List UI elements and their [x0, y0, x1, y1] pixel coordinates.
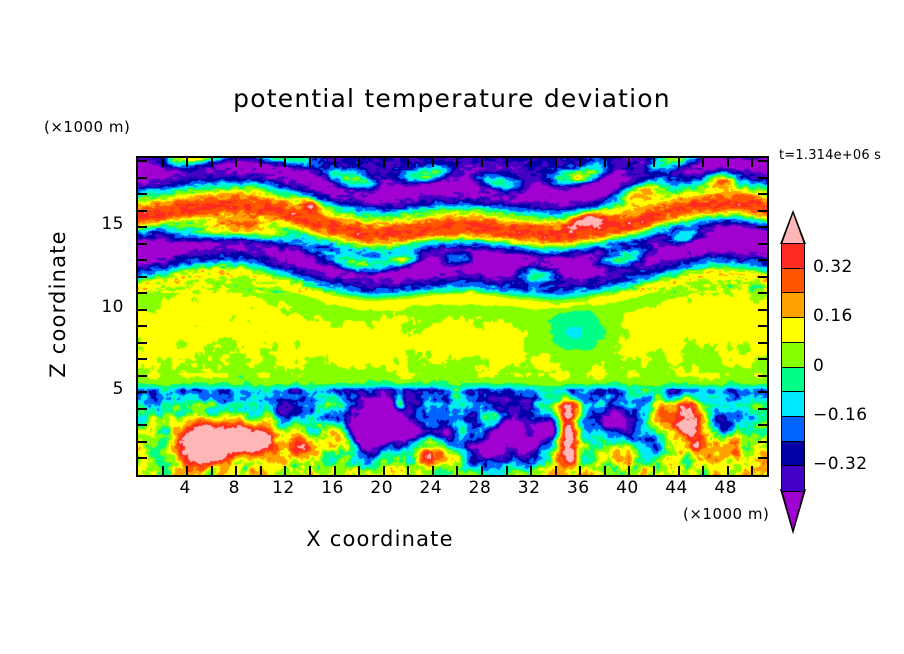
x-tick-mark: [456, 158, 458, 167]
x-tick-mark: [702, 466, 704, 475]
x-tick-mark: [653, 466, 655, 475]
colorbar-tick-label: −0.16: [813, 405, 868, 425]
colorbar-tick-label: 0: [813, 356, 824, 376]
x-tick-label: 48: [706, 478, 746, 498]
y-axis-units-label: (×1000 m): [44, 118, 130, 136]
x-tick-mark: [383, 466, 385, 475]
x-tick-mark: [358, 466, 360, 475]
x-tick-mark: [555, 466, 557, 475]
x-tick-mark: [260, 158, 262, 167]
x-tick-mark: [481, 158, 483, 167]
y-tick-mark: [758, 276, 767, 278]
x-tick-mark: [530, 158, 532, 167]
y-tick-mark: [758, 226, 767, 228]
x-tick-mark: [407, 466, 409, 475]
y-tick-mark: [758, 457, 767, 459]
y-tick-label: 10: [84, 297, 124, 317]
x-tick-mark: [530, 466, 532, 475]
x-tick-label: 16: [313, 478, 353, 498]
x-tick-label: 12: [263, 478, 303, 498]
y-tick-mark: [758, 441, 767, 443]
x-tick-mark: [432, 158, 434, 167]
colorbar-band: [781, 391, 805, 417]
x-tick-mark: [334, 158, 336, 167]
y-tick-mark: [758, 309, 767, 311]
y-tick-mark: [758, 325, 767, 327]
colorbar-band: [781, 465, 805, 491]
colorbar-band: [781, 441, 805, 467]
x-tick-mark: [678, 466, 680, 475]
y-tick-label: 5: [84, 379, 124, 399]
y-tick-mark: [758, 160, 767, 162]
x-tick-mark: [751, 158, 753, 167]
y-tick-mark: [758, 243, 767, 245]
x-tick-mark: [506, 466, 508, 475]
x-tick-mark: [358, 158, 360, 167]
x-tick-mark: [579, 158, 581, 167]
y-tick-mark: [138, 309, 147, 311]
colorbar-tick-label: 0.16: [813, 306, 853, 326]
y-tick-mark: [758, 358, 767, 360]
y-tick-mark: [758, 292, 767, 294]
x-tick-mark: [235, 466, 237, 475]
y-tick-mark: [138, 160, 147, 162]
page-title: potential temperature deviation: [0, 84, 904, 113]
y-tick-mark: [138, 292, 147, 294]
y-tick-label: 15: [84, 214, 124, 234]
y-tick-mark: [758, 391, 767, 393]
x-tick-label: 20: [362, 478, 402, 498]
y-tick-mark: [138, 276, 147, 278]
y-tick-mark: [138, 226, 147, 228]
y-tick-mark: [138, 391, 147, 393]
colorbar-cap-top: [780, 210, 806, 244]
y-tick-mark: [758, 193, 767, 195]
y-tick-mark: [138, 243, 147, 245]
y-tick-mark: [138, 441, 147, 443]
x-tick-mark: [727, 466, 729, 475]
x-tick-mark: [678, 158, 680, 167]
x-tick-mark: [309, 158, 311, 167]
colorbar-band: [781, 416, 805, 442]
colorbar-band: [781, 292, 805, 318]
x-tick-mark: [432, 466, 434, 475]
y-axis-title: Z coordinate: [46, 194, 70, 414]
x-tick-mark: [628, 158, 630, 167]
x-tick-mark: [506, 158, 508, 167]
x-tick-mark: [653, 158, 655, 167]
x-tick-label: 40: [607, 478, 647, 498]
y-tick-mark: [138, 177, 147, 179]
plot-area: [136, 156, 769, 477]
colorbar-cap-bottom: [780, 489, 806, 534]
x-tick-mark: [727, 158, 729, 167]
x-tick-label: 28: [460, 478, 500, 498]
colorbar-tick-label: 0.32: [813, 257, 853, 277]
y-tick-mark: [138, 424, 147, 426]
x-tick-label: 8: [214, 478, 254, 498]
x-tick-mark: [555, 158, 557, 167]
x-tick-mark: [456, 466, 458, 475]
y-tick-mark: [758, 342, 767, 344]
time-annotation: t=1.314e+06 s: [779, 148, 881, 163]
x-tick-label: 32: [509, 478, 549, 498]
colorbar: [781, 243, 805, 490]
x-tick-mark: [260, 466, 262, 475]
x-tick-mark: [162, 466, 164, 475]
contour-field: [138, 158, 767, 475]
y-tick-mark: [138, 408, 147, 410]
x-tick-mark: [407, 158, 409, 167]
x-tick-label: 36: [558, 478, 598, 498]
y-tick-mark: [138, 210, 147, 212]
x-tick-mark: [628, 466, 630, 475]
figure-root: potential temperature deviation (×1000 m…: [0, 0, 904, 654]
y-tick-mark: [758, 375, 767, 377]
x-tick-mark: [186, 466, 188, 475]
x-tick-mark: [604, 466, 606, 475]
y-tick-mark: [758, 408, 767, 410]
colorbar-band: [781, 243, 805, 269]
y-tick-mark: [758, 259, 767, 261]
x-tick-mark: [309, 466, 311, 475]
x-tick-mark: [284, 158, 286, 167]
x-tick-mark: [334, 466, 336, 475]
y-tick-mark: [138, 259, 147, 261]
x-axis-title: X coordinate: [0, 527, 760, 551]
x-tick-mark: [604, 158, 606, 167]
y-tick-mark: [758, 210, 767, 212]
x-tick-mark: [235, 158, 237, 167]
colorbar-band: [781, 367, 805, 393]
y-tick-mark: [138, 375, 147, 377]
x-tick-label: 44: [657, 478, 697, 498]
colorbar-tick-label: −0.32: [813, 454, 868, 474]
y-tick-mark: [138, 457, 147, 459]
x-tick-mark: [162, 158, 164, 167]
colorbar-band: [781, 342, 805, 368]
x-tick-label: 4: [165, 478, 205, 498]
colorbar-band: [781, 268, 805, 294]
x-tick-mark: [481, 466, 483, 475]
x-tick-label: 24: [411, 478, 451, 498]
x-tick-mark: [211, 158, 213, 167]
y-tick-mark: [138, 193, 147, 195]
y-tick-mark: [138, 325, 147, 327]
x-tick-mark: [751, 466, 753, 475]
x-tick-mark: [186, 158, 188, 167]
x-tick-mark: [383, 158, 385, 167]
y-tick-mark: [758, 177, 767, 179]
x-tick-mark: [284, 466, 286, 475]
colorbar-band: [781, 317, 805, 343]
y-tick-mark: [758, 424, 767, 426]
y-tick-mark: [138, 358, 147, 360]
x-tick-mark: [702, 158, 704, 167]
y-tick-mark: [138, 342, 147, 344]
x-axis-units-label: (×1000 m): [683, 505, 769, 523]
x-tick-mark: [211, 466, 213, 475]
x-tick-mark: [579, 466, 581, 475]
